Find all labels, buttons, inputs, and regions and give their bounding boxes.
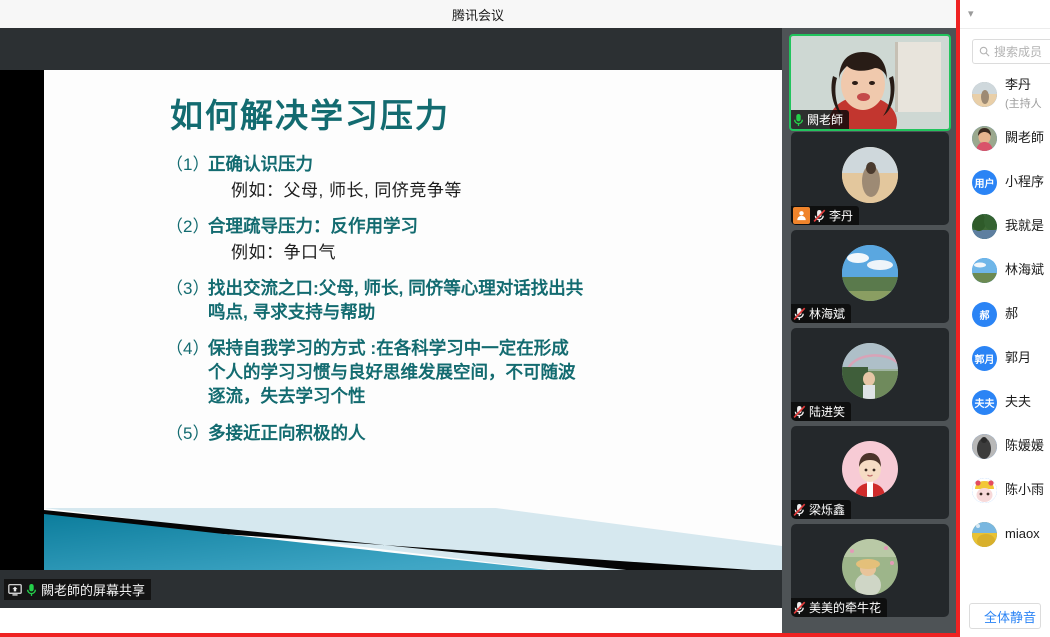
person-icon — [796, 210, 807, 221]
video-tile-namebar: 李丹 — [791, 206, 859, 225]
participants-panel-footer: 全体静音 — [960, 603, 1050, 629]
participant-name: 林海斌 — [1005, 262, 1044, 278]
video-tile[interactable]: 美美的牵牛花 — [791, 524, 949, 617]
avatar-image — [842, 539, 898, 595]
slide-item-continuation: 个人的学习习惯与良好思维发展空间，不可随波 — [166, 361, 766, 385]
avatar — [842, 245, 898, 301]
slide-item-number: （3） — [166, 277, 208, 301]
slide-item-text: 正确认识压力 — [208, 153, 766, 177]
participants-panel[interactable]: ▾ 搜索成员 李丹 (主持 — [960, 0, 1050, 637]
avatar — [972, 522, 997, 547]
meeting-window: 腾讯会议 如何解决学习压力 （1） 正确认识压力 例如：父母, 师长, 同侪竞争… — [0, 0, 1050, 637]
avatar-initials: 夫夫 — [972, 390, 997, 415]
avatar — [972, 478, 997, 503]
slide-item-number: （2） — [166, 215, 208, 239]
video-tile[interactable]: 闕老師 — [789, 34, 951, 131]
list-item[interactable]: 陈媛媛 — [960, 424, 1050, 468]
chevron-down-icon[interactable]: ▾ — [968, 9, 974, 20]
video-tile-name: 李丹 — [829, 207, 853, 224]
video-tile-name: 美美的牵牛花 — [809, 599, 881, 616]
share-status-bar: 闕老師的屏幕共享 — [0, 570, 782, 608]
shared-screen-stage[interactable]: 如何解决学习压力 （1） 正确认识压力 例如：父母, 师长, 同侪竞争等 （2）… — [0, 28, 782, 608]
share-status-label: 闕老師的屏幕共享 — [41, 580, 145, 599]
slide-item-text: 保持自我学习的方式 :在各科学习中一定在形成 — [208, 337, 766, 361]
participant-name: 郭月 — [1005, 350, 1031, 366]
video-tile-namebar: 林海斌 — [791, 304, 851, 323]
window-title-bar: 腾讯会议 — [0, 0, 956, 29]
microphone-muted-icon — [793, 503, 806, 517]
participant-name: 陈媛媛 — [1005, 438, 1044, 454]
list-item[interactable]: 郭月 郭月 — [960, 336, 1050, 380]
video-tile[interactable]: 林海斌 — [791, 230, 949, 323]
microphone-muted-icon — [813, 209, 826, 223]
list-item[interactable]: 李丹 (主持人 — [960, 72, 1050, 116]
presentation-slide: 如何解决学习压力 （1） 正确认识压力 例如：父母, 师长, 同侪竞争等 （2）… — [44, 70, 782, 598]
avatar-image — [972, 126, 997, 151]
avatar-image — [842, 147, 898, 203]
slide-item-text: 合理疏导压力：反作用学习 — [208, 215, 766, 239]
video-tile[interactable]: 李丹 — [791, 132, 949, 225]
avatar-initials: 郝 — [972, 302, 997, 327]
video-tile-name: 陆进笑 — [809, 403, 845, 420]
participant-name: 李丹 — [1005, 77, 1031, 92]
avatar-image — [972, 522, 997, 547]
video-tile-namebar: 陆进笑 — [791, 402, 851, 421]
avatar-image — [842, 441, 898, 497]
avatar — [842, 539, 898, 595]
slide-item-continuation: 逐流，失去学习个性 — [166, 385, 766, 409]
video-tile-namebar: 美美的牵牛花 — [791, 598, 887, 617]
participant-name: 夫夫 — [1005, 394, 1031, 410]
microphone-on-icon — [26, 583, 37, 597]
slide-item: （1） 正确认识压力 例如：父母, 师长, 同侪竞争等 — [166, 153, 766, 202]
participant-name: miaox — [1005, 526, 1040, 542]
list-item[interactable]: 陈小雨 — [960, 468, 1050, 512]
video-tile-name: 闕老師 — [807, 111, 843, 128]
avatar — [972, 434, 997, 459]
participant-name: 陈小雨 — [1005, 482, 1044, 498]
list-item-text: 李丹 (主持人 — [1005, 76, 1042, 112]
video-tile-namebar: 梁烁鑫 — [791, 500, 851, 519]
search-icon — [979, 46, 990, 57]
list-item[interactable]: 闕老師 — [960, 116, 1050, 160]
slide-item-sub: 例如：父母, 师长, 同侪竞争等 — [166, 179, 766, 202]
avatar — [972, 82, 997, 107]
slide-item-text: 找出交流之口:父母, 师长, 同侪等心理对话找出共 — [208, 277, 766, 301]
share-status-tag: 闕老師的屏幕共享 — [4, 579, 151, 600]
screen-share-icon — [8, 584, 22, 596]
slide-item-number: （4） — [166, 337, 208, 361]
avatar-image — [972, 82, 997, 107]
list-item[interactable]: 用户 小程序 — [960, 160, 1050, 204]
video-tile[interactable]: 陆进笑 — [791, 328, 949, 421]
microphone-on-icon — [793, 113, 804, 127]
list-item[interactable]: 夫夫 夫夫 — [960, 380, 1050, 424]
slide-item: （4） 保持自我学习的方式 :在各科学习中一定在形成 个人的学习习惯与良好思维发… — [166, 337, 766, 408]
slide-item-number: （5） — [166, 422, 208, 446]
avatar — [842, 147, 898, 203]
mute-all-button[interactable]: 全体静音 — [969, 603, 1041, 629]
avatar — [972, 126, 997, 151]
participant-name: 闕老師 — [1005, 130, 1044, 146]
video-tile[interactable]: 梁烁鑫 — [791, 426, 949, 519]
participants-search-row[interactable]: 搜索成员 — [960, 29, 1050, 72]
microphone-muted-icon — [793, 307, 806, 321]
slide-title: 如何解决学习压力 — [170, 89, 450, 137]
slide-body: （1） 正确认识压力 例如：父母, 师长, 同侪竞争等 （2） 合理疏导压力：反… — [166, 153, 766, 459]
video-filmstrip[interactable]: 闕老師 — [782, 28, 956, 637]
list-item[interactable]: 林海斌 — [960, 248, 1050, 292]
list-item[interactable]: miaox — [960, 512, 1050, 556]
list-item[interactable]: 郝 郝 — [960, 292, 1050, 336]
avatar — [972, 258, 997, 283]
video-tile-name: 林海斌 — [809, 305, 845, 322]
slide-item: （5） 多接近正向积极的人 — [166, 422, 766, 446]
avatar — [972, 214, 997, 239]
screen-share-border-bottom — [0, 633, 956, 637]
avatar-image — [972, 258, 997, 283]
screen-share-border-right — [956, 0, 960, 637]
avatar-image — [842, 343, 898, 399]
avatar-image — [972, 434, 997, 459]
avatar-initials: 用户 — [972, 170, 997, 195]
slide-item-text: 多接近正向积极的人 — [208, 422, 766, 446]
slide-item: （2） 合理疏导压力：反作用学习 例如：争口气 — [166, 215, 766, 264]
microphone-muted-icon — [793, 405, 806, 419]
slide-item-number: （1） — [166, 153, 208, 177]
participant-name: 郝 — [1005, 306, 1018, 322]
participant-role: (主持人 — [1005, 98, 1042, 110]
list-item[interactable]: 我就是 — [960, 204, 1050, 248]
video-tile-namebar: 闕老師 — [791, 110, 849, 129]
avatar-image — [842, 245, 898, 301]
participant-name: 小程序 — [1005, 174, 1044, 190]
avatar-initials: 郭月 — [972, 346, 997, 371]
page-title: 腾讯会议 — [452, 5, 504, 24]
host-badge — [793, 207, 810, 224]
video-tile-name: 梁烁鑫 — [809, 501, 845, 518]
avatar-image — [972, 478, 997, 503]
microphone-muted-icon — [793, 601, 806, 615]
search-input[interactable]: 搜索成员 — [972, 39, 1050, 64]
participant-name: 我就是 — [1005, 218, 1044, 234]
search-placeholder: 搜索成员 — [994, 43, 1042, 60]
avatar — [842, 343, 898, 399]
avatar-image — [972, 214, 997, 239]
slide-item-continuation: 鸣点, 寻求支持与帮助 — [166, 301, 766, 325]
slide-item: （3） 找出交流之口:父母, 师长, 同侪等心理对话找出共 鸣点, 寻求支持与帮… — [166, 277, 766, 325]
participants-panel-header[interactable]: ▾ — [960, 0, 1050, 29]
avatar — [842, 441, 898, 497]
participants-list[interactable]: 李丹 (主持人 闕老師 用户 小程序 — [960, 72, 1050, 581]
slide-item-sub: 例如：争口气 — [166, 241, 766, 264]
